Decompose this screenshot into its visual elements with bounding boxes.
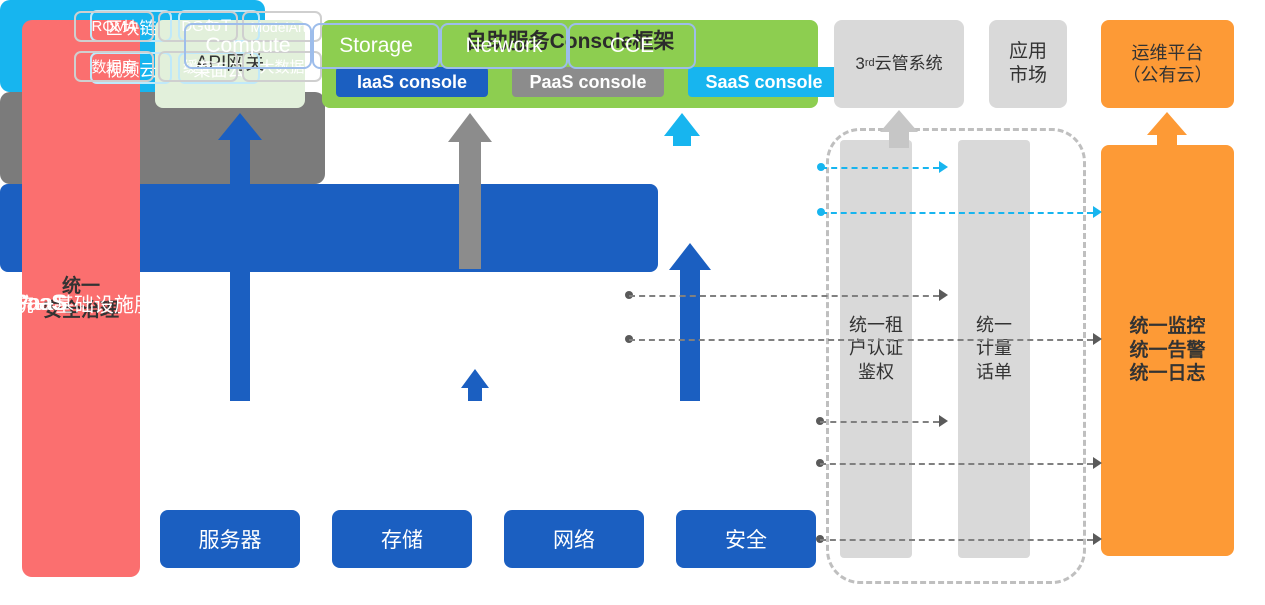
third-party-suffix: 云管系统	[875, 53, 943, 74]
connector-paas-to-auth	[629, 295, 939, 297]
iaas-chip-network[interactable]: Network	[440, 23, 568, 69]
hardware-box-security: 安全	[676, 510, 816, 568]
architecture-diagram: 统一 安全治理 API网关 自助服务Console框架 IaaS console…	[0, 0, 1265, 605]
arrow-iaas-to-saas	[669, 243, 711, 401]
saas-console-chip[interactable]: SaaS console	[688, 67, 840, 97]
paas-console-chip[interactable]: PaaS console	[512, 67, 664, 97]
unified-monitoring-box: 统一监控 统一告警 统一日志	[1101, 145, 1234, 556]
paas-chip-database[interactable]: 数据库	[74, 51, 154, 82]
third-party-prefix: 3	[855, 53, 864, 74]
connector-saas-to-ops	[821, 212, 1093, 214]
app-market-box: 应用 市场	[989, 20, 1067, 108]
connector-arrow-iaas-auth	[939, 415, 948, 427]
iaas-layer-label: 统一基础设施服务	[14, 288, 174, 317]
iaas-chip-compute[interactable]: Compute	[184, 23, 312, 69]
connector-hardware-to-ops	[820, 539, 1093, 541]
connector-iaas-to-ops	[820, 463, 1093, 465]
unified-tenant-auth-column: 统一租 户认证 鉴权	[840, 140, 912, 558]
connector-arrow-saas-auth	[939, 161, 948, 173]
iaas-chip-storage[interactable]: Storage	[312, 23, 440, 69]
connector-saas-to-auth	[821, 167, 939, 169]
iaas-chip-cce[interactable]: CCE	[568, 23, 696, 69]
connector-arrow-iaas-ops	[1093, 457, 1102, 469]
connector-arrow-hardware-ops	[1093, 533, 1102, 545]
hardware-box-network: 网络	[504, 510, 644, 568]
unified-billing-column: 统一 计量 话单	[958, 140, 1030, 558]
arrow-monitor-to-ops-platform	[1147, 112, 1187, 148]
ops-platform-box: 运维平台 （公有云）	[1101, 20, 1234, 108]
connector-arrow-paas-ops	[1093, 333, 1102, 345]
hardware-box-server: 服务器	[160, 510, 300, 568]
arrow-iaas-to-paas	[461, 369, 489, 401]
third-party-cloud-mgmt-box: 3rd云管系统	[834, 20, 964, 108]
arrow-saas-to-console	[664, 113, 700, 146]
connector-arrow-saas-ops	[1093, 206, 1102, 218]
iaas-console-chip[interactable]: IaaS console	[336, 67, 488, 97]
connector-arrow-paas-auth	[939, 289, 948, 301]
third-party-ordinal-sup: rd	[865, 57, 875, 71]
connector-iaas-to-auth	[820, 421, 939, 423]
connector-paas-to-ops	[629, 339, 1093, 341]
hardware-box-storage: 存储	[332, 510, 472, 568]
paas-chip-roma[interactable]: ROMA	[74, 11, 154, 42]
